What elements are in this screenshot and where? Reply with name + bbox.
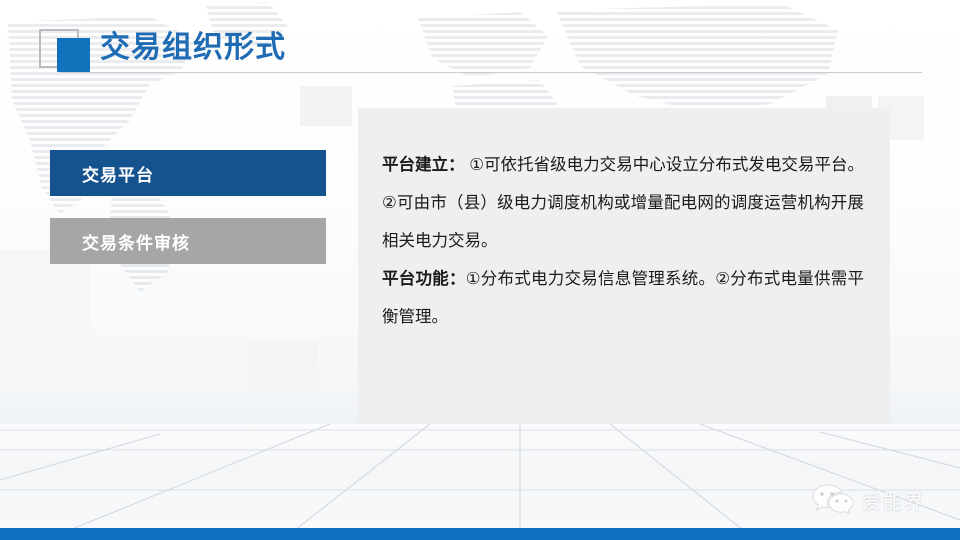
title-divider <box>60 72 922 73</box>
paragraph-lead-label: 平台建立： <box>382 156 465 174</box>
paragraph-lead-label: 平台功能： <box>382 270 466 288</box>
content-paragraph-platform-establishment: 平台建立： ①可依托省级电力交易中心设立分布式发电交易平台。 ②可由市（县）级电… <box>382 146 864 260</box>
watermark: 爱能界 <box>812 482 925 519</box>
watermark-label: 爱能界 <box>862 487 925 514</box>
content-panel: 平台建立： ①可依托省级电力交易中心设立分布式发电交易平台。 ②可由市（县）级电… <box>358 108 890 424</box>
background-block-3 <box>300 86 352 126</box>
nav-item-trading-condition-review[interactable]: 交易条件审核 <box>50 218 326 264</box>
background-block-4 <box>248 340 318 398</box>
bottom-accent-bar <box>0 528 960 540</box>
slide-canvas: 交易组织形式 交易平台 交易条件审核 平台建立： ①可依托省级电力交易中心设立分… <box>0 0 960 540</box>
nav-list: 交易平台 交易条件审核 <box>50 150 326 286</box>
nav-item-label: 交易平台 <box>82 161 154 186</box>
nav-item-trading-platform[interactable]: 交易平台 <box>50 150 326 196</box>
page-title: 交易组织形式 <box>100 27 286 69</box>
nav-item-label: 交易条件审核 <box>82 229 190 254</box>
content-paragraph-platform-function: 平台功能：①分布式电力交易信息管理系统。②分布式电量供需平衡管理。 <box>382 260 864 336</box>
wechat-icon <box>812 482 854 519</box>
header-filled-square-icon <box>57 38 90 72</box>
